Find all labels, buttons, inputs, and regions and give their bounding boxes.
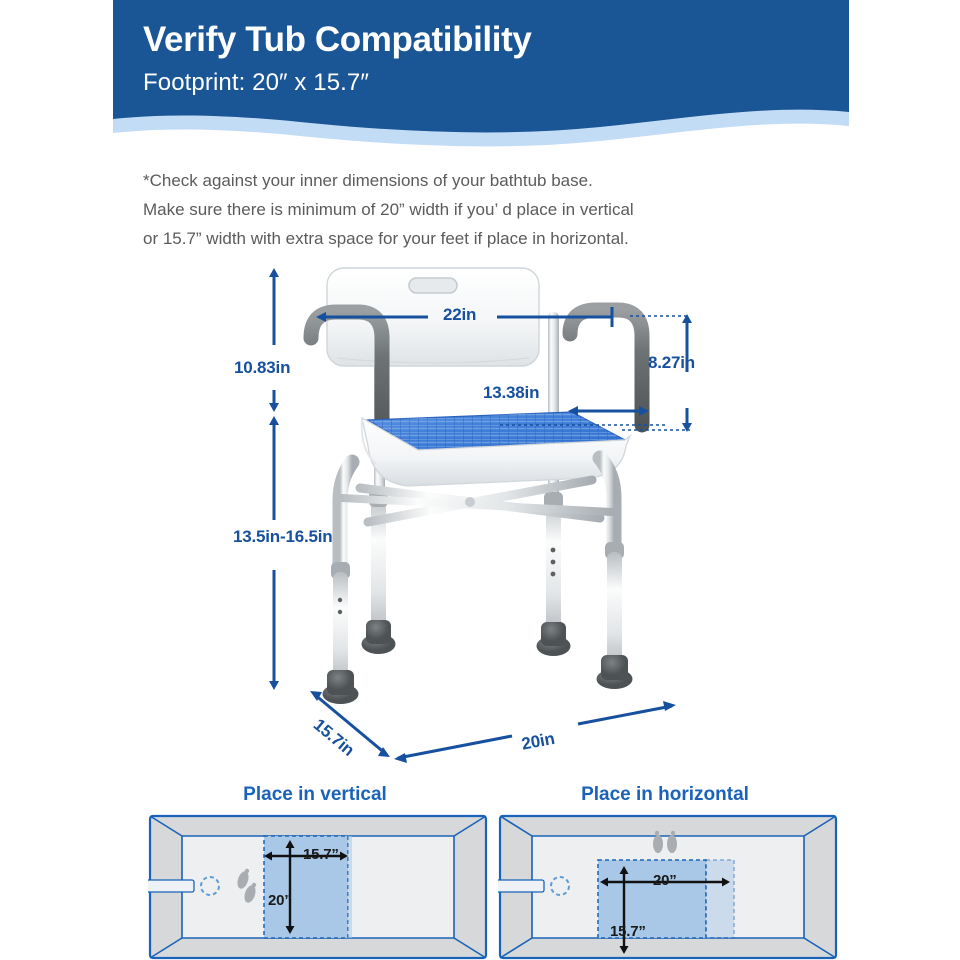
- faucet-spout: [498, 880, 544, 892]
- shower-chair-illustration: [0, 250, 960, 770]
- label-seat-depth: 13.38in: [483, 383, 539, 403]
- front-legs: [323, 458, 633, 704]
- chair-graphic: [311, 268, 642, 704]
- label-seat-height: 13.5in-16.5in: [233, 527, 332, 547]
- tub-vertical-depth-label: 20”: [268, 892, 292, 909]
- tub-vertical-width-label: 15.7”: [303, 846, 339, 863]
- cross-braces: [342, 480, 612, 522]
- label-backrest-height: 10.83in: [234, 358, 290, 378]
- dim-armrest-height: [622, 314, 692, 432]
- intro-line-1: *Check against your inner dimensions of …: [143, 166, 843, 195]
- tub-horizontal-depth-label: 15.7”: [610, 923, 646, 940]
- dim-backrest-height: [269, 268, 279, 412]
- label-backrest-width: 22in: [443, 305, 476, 325]
- faucet-spout: [148, 880, 194, 892]
- label-armrest-height: 8.27in: [648, 353, 695, 373]
- tub-vertical-title: Place in vertical: [150, 784, 480, 806]
- intro-paragraph: *Check against your inner dimensions of …: [143, 166, 843, 253]
- product-dimension-diagram: 10.83in 13.5in-16.5in 22in 8.27in 13.38i…: [0, 250, 960, 770]
- header-banner: Verify Tub Compatibility Footprint: 20″ …: [0, 0, 960, 170]
- tub-horizontal-title: Place in horizontal: [500, 784, 830, 806]
- height-adjustment-holes: [338, 548, 556, 615]
- tub-vertical-diagram: [148, 814, 488, 960]
- intro-line-3: or 15.7” width with extra space for your…: [143, 224, 843, 253]
- tub-placement-section: Place in vertical 15.7” 20” Pla: [0, 778, 960, 960]
- page-title: Verify Tub Compatibility: [143, 20, 843, 60]
- intro-line-2: Make sure there is minimum of 20” width …: [143, 195, 843, 224]
- dim-seat-height: [269, 416, 279, 690]
- backrest-handle-slot: [409, 278, 457, 293]
- footprint-subtitle: Footprint: 20″ x 15.7″: [143, 68, 843, 98]
- tub-horizontal-width-label: 20”: [653, 872, 677, 889]
